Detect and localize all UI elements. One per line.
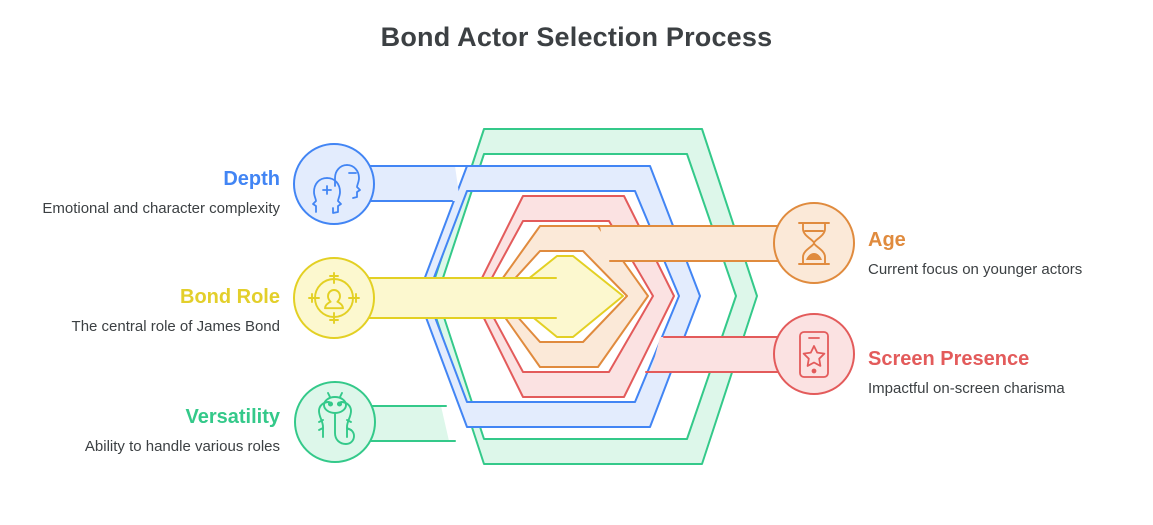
label-title-depth: Depth (18, 168, 280, 190)
label-desc-age: Current focus on younger actors (868, 260, 1118, 280)
label-block-depth: Depth Emotional and character complexity (18, 168, 280, 219)
label-desc-versatility: Ability to handle various roles (8, 437, 280, 457)
bond-role-icon-badge[interactable] (294, 258, 374, 338)
label-block-screen-presence: Screen Presence Impactful on-screen char… (868, 348, 1128, 399)
label-desc-depth: Emotional and character complexity (18, 199, 280, 219)
label-desc-bond-role: The central role of James Bond (18, 317, 280, 337)
age-stem-fill (600, 226, 800, 261)
screen-presence-icon-badge[interactable] (774, 314, 854, 394)
label-title-screen-presence: Screen Presence (868, 348, 1128, 370)
label-title-age: Age (868, 229, 1118, 251)
label-title-versatility: Versatility (8, 406, 280, 428)
label-desc-screen-presence: Impactful on-screen charisma (868, 379, 1128, 399)
label-block-bond-role: Bond Role The central role of James Bond (18, 286, 280, 337)
layer-bond-role (294, 256, 623, 338)
label-title-bond-role: Bond Role (18, 286, 280, 308)
label-block-versatility: Versatility Ability to handle various ro… (8, 406, 280, 457)
label-block-age: Age Current focus on younger actors (868, 229, 1118, 280)
